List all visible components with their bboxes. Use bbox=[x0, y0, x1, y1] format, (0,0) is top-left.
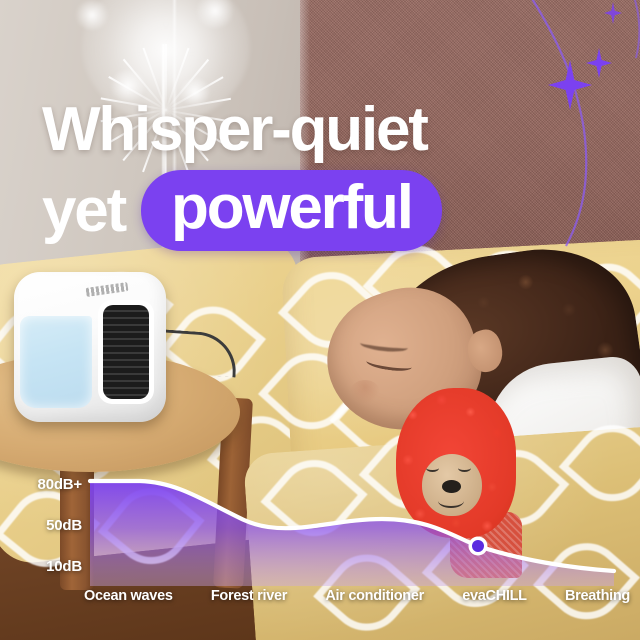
y-axis-tick-10: 10dB bbox=[46, 558, 82, 575]
y-axis-tick-80: 80dB+ bbox=[38, 476, 82, 493]
chart-area-fill bbox=[90, 481, 614, 586]
headline-highlight-pill: powerful bbox=[141, 170, 442, 251]
chart-x-axis: Ocean waves Forest river Air conditioner… bbox=[84, 588, 630, 604]
cooler-light-panel bbox=[20, 316, 92, 408]
air-cooler-icon bbox=[14, 272, 166, 422]
cooler-fan-grille bbox=[98, 300, 154, 404]
chart-highlight-marker-core bbox=[472, 540, 484, 552]
headline-line-2-prefix: yet bbox=[42, 175, 125, 246]
child-nose bbox=[350, 380, 380, 404]
x-axis-label-air-conditioner: Air conditioner bbox=[325, 588, 424, 604]
chart-area-svg bbox=[0, 440, 640, 640]
headline-line-2: yet powerful bbox=[0, 170, 640, 251]
noise-level-chart: 80dB+ 50dB 10dB Ocean waves Forest river… bbox=[0, 440, 640, 640]
chart-y-axis: 80dB+ 50dB 10dB bbox=[0, 440, 90, 640]
headline-line-1: Whisper-quiet bbox=[0, 98, 640, 162]
x-axis-label-breathing: Breathing bbox=[565, 588, 630, 604]
ad-creative: Whisper-quiet yet powerful 8 bbox=[0, 0, 640, 640]
x-axis-label-forest-river: Forest river bbox=[211, 588, 287, 604]
x-axis-label-ocean-waves: Ocean waves bbox=[84, 588, 173, 604]
y-axis-tick-50: 50dB bbox=[46, 517, 82, 534]
x-axis-label-evachill: evaCHILL bbox=[462, 588, 526, 604]
headline-block: Whisper-quiet yet powerful bbox=[0, 98, 640, 251]
